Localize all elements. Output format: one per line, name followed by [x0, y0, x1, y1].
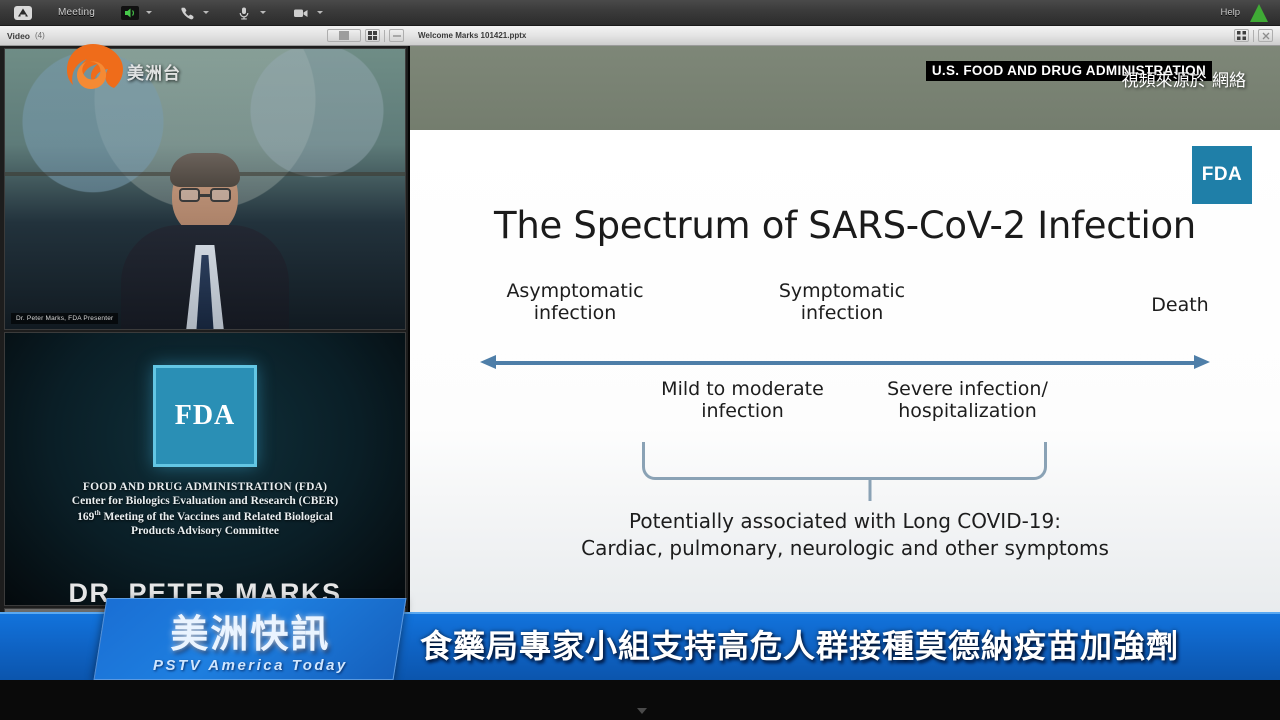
- speaker-dropdown-caret[interactable]: [146, 11, 152, 14]
- title-card-line-2: Center for Biologics Evaluation and Rese…: [5, 495, 405, 507]
- app-menubar: Meeting: [0, 0, 1280, 26]
- presenter-hair: [170, 153, 240, 187]
- news-logo-english: PSTV America Today: [101, 657, 399, 674]
- title-card-text: FOOD AND DRUG ADMINISTRATION (FDA) Cente…: [5, 481, 405, 537]
- speaker-view-button[interactable]: [327, 29, 361, 42]
- long-covid-note: Potentially associated with Long COVID-1…: [410, 508, 1280, 562]
- label-death: Death: [1110, 294, 1250, 316]
- gallery-view-button[interactable]: [365, 29, 380, 42]
- video-panel-buttons: [327, 29, 410, 42]
- presenter-figure: [119, 157, 291, 329]
- slide-fda-logo-icon: FDA: [1192, 146, 1252, 204]
- toolbar-divider: [384, 30, 385, 42]
- source-watermark: 視頻來源於 網絡: [1122, 66, 1246, 91]
- eyeglasses-left-icon: [179, 188, 200, 202]
- channel-bug: 美洲台: [62, 40, 181, 102]
- news-logo-chinese: 美洲快訊: [101, 603, 399, 658]
- title-card-line-3: 169th Meeting of the Vaccines and Relate…: [5, 509, 405, 523]
- share-window-buttons: [1234, 29, 1280, 42]
- camera-tool-group[interactable]: [290, 4, 323, 22]
- screen-root: Meeting: [0, 0, 1280, 720]
- help-link[interactable]: Help: [1220, 7, 1240, 18]
- speaker-tool-group[interactable]: [119, 4, 152, 22]
- slide-title: The Spectrum of SARS-CoV-2 Infection: [410, 204, 1280, 247]
- zoom-app-logo[interactable]: [10, 3, 36, 23]
- video-panel-title: Video: [7, 31, 30, 41]
- news-program-logo: 美洲快訊 PSTV America Today: [94, 598, 407, 680]
- title-card-line-1: FOOD AND DRUG ADMINISTRATION (FDA): [5, 481, 405, 493]
- share-toolbar-divider: [1253, 30, 1254, 42]
- camera-icon[interactable]: [290, 4, 312, 22]
- camera-dropdown-caret[interactable]: [317, 11, 323, 14]
- spectrum-top-labels: Asymptomatic infection Symptomatic infec…: [410, 280, 1280, 342]
- presentation-slide[interactable]: FDA The Spectrum of SARS-CoV-2 Infection…: [410, 130, 1280, 672]
- microphone-dropdown-caret[interactable]: [260, 11, 266, 14]
- label-asymptomatic: Asymptomatic infection: [470, 280, 680, 325]
- long-covid-line-1: Potentially associated with Long COVID-1…: [410, 508, 1280, 535]
- meeting-number: 169: [77, 511, 94, 523]
- fda-logo-icon: FDA: [153, 365, 257, 467]
- microphone-tool-group[interactable]: [233, 4, 266, 22]
- phoenix-logo-icon: [62, 40, 124, 102]
- phone-icon[interactable]: [176, 4, 198, 22]
- spectrum-mid-labels: Mild to moderate infection Severe infect…: [410, 378, 1280, 440]
- arrow-head-right-icon: [1194, 355, 1210, 369]
- eyeglasses-bridge: [200, 194, 210, 197]
- phone-dropdown-caret[interactable]: [203, 11, 209, 14]
- video-panel-participant-count: (4): [35, 31, 45, 40]
- title-card-line-4: Products Advisory Committee: [5, 525, 405, 537]
- fullscreen-button[interactable]: [1234, 29, 1249, 42]
- eyeglasses-right-icon: [210, 188, 231, 202]
- share-titlebar[interactable]: Welcome Marks 101421.pptx: [410, 26, 1280, 46]
- speaker-icon[interactable]: [119, 4, 141, 22]
- menubar-right-group: Help: [1220, 4, 1280, 22]
- long-covid-line-2: Cardiac, pulmonary, neurologic and other…: [410, 535, 1280, 562]
- news-headline: 食藥局專家小組支持高危人群接種莫德納疫苗加強劑: [420, 621, 1250, 667]
- label-severe-infection: Severe infection/ hospitalization: [850, 378, 1085, 423]
- grouping-brace: [642, 442, 1047, 480]
- shared-file-name: Welcome Marks 101421.pptx: [418, 31, 526, 40]
- minimize-panel-button[interactable]: [389, 29, 404, 42]
- label-symptomatic: Symptomatic infection: [742, 280, 942, 325]
- phone-tool-group[interactable]: [176, 4, 209, 22]
- label-mild-to-moderate: Mild to moderate infection: [635, 378, 850, 423]
- menu-item-meeting[interactable]: Meeting: [58, 7, 95, 18]
- title-card-line-3-rest: Meeting of the Vaccines and Related Biol…: [101, 511, 333, 523]
- participant-name-label: Dr. Peter Marks, FDA Presenter: [11, 313, 118, 324]
- leave-meeting-icon[interactable]: [1250, 4, 1268, 22]
- grouping-brace-stem: [869, 479, 872, 501]
- close-share-button[interactable]: [1258, 29, 1273, 42]
- chevron-down-icon[interactable]: [637, 708, 647, 714]
- arrow-line: [494, 361, 1196, 365]
- channel-name: 美洲台: [127, 59, 181, 84]
- microphone-icon[interactable]: [233, 4, 255, 22]
- video-tile-title-card[interactable]: FDA FOOD AND DRUG ADMINISTRATION (FDA) C…: [4, 332, 406, 606]
- fda-logo-text: FDA: [175, 400, 236, 432]
- spectrum-arrow: [480, 355, 1210, 369]
- bottom-black-strip: [0, 680, 1280, 720]
